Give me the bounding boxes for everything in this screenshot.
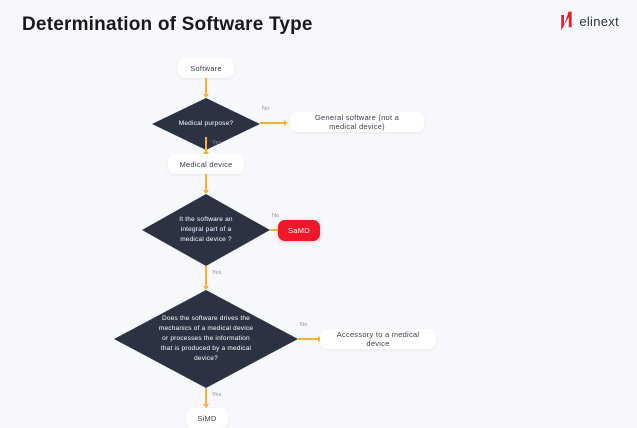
flow-edge-label-no-3: No xyxy=(300,322,307,328)
flow-node-simd[interactable]: SiMD xyxy=(186,408,228,428)
flow-edge-label-yes-2: Yes xyxy=(212,270,222,276)
flow-edge-label-no-1: No xyxy=(262,106,269,112)
brand-logo: elinext xyxy=(559,11,619,31)
flow-edge-label-yes-1: Yes xyxy=(212,140,222,146)
flow-edge-drives-mechanics-yes xyxy=(200,388,212,408)
flow-node-drives-mechanics-decision[interactable]: Does the software drives the mechanics o… xyxy=(114,290,298,388)
page-title: Determination of Software Type xyxy=(22,14,313,36)
flow-edge-label-yes-3: Yes xyxy=(212,392,222,398)
flow-node-medical-device[interactable]: Medical device xyxy=(168,154,244,174)
flow-node-start[interactable]: Software xyxy=(178,58,234,78)
flow-node-integral-part-decision[interactable]: It the software an integral part of a me… xyxy=(142,194,270,266)
flow-edge-medical-device-to-integral-part xyxy=(200,174,212,194)
flow-edge-medical-purpose-no xyxy=(260,118,288,128)
flow-node-samd[interactable]: SaMD xyxy=(278,220,320,241)
flow-edge-drives-mechanics-no xyxy=(298,334,322,344)
flow-edge-integral-part-yes xyxy=(200,266,212,290)
brand-wordmark: elinext xyxy=(579,14,619,29)
flow-edge-start-to-medical-purpose xyxy=(200,78,212,98)
flow-node-label: Medical purpose? xyxy=(179,119,234,129)
flow-node-label: It the software an integral part of a me… xyxy=(179,215,232,245)
elinext-n-mark-icon xyxy=(559,11,574,31)
flow-node-label: Does the software drives the mechanics o… xyxy=(159,314,253,364)
flowchart-canvas: Software Medical purpose? No General sof… xyxy=(0,48,637,422)
flow-edge-label-no-2: No xyxy=(272,213,279,219)
flow-node-accessory[interactable]: Accessory to a medical device xyxy=(320,329,436,349)
flow-node-general-software[interactable]: General software (not a medical device) xyxy=(290,112,424,132)
